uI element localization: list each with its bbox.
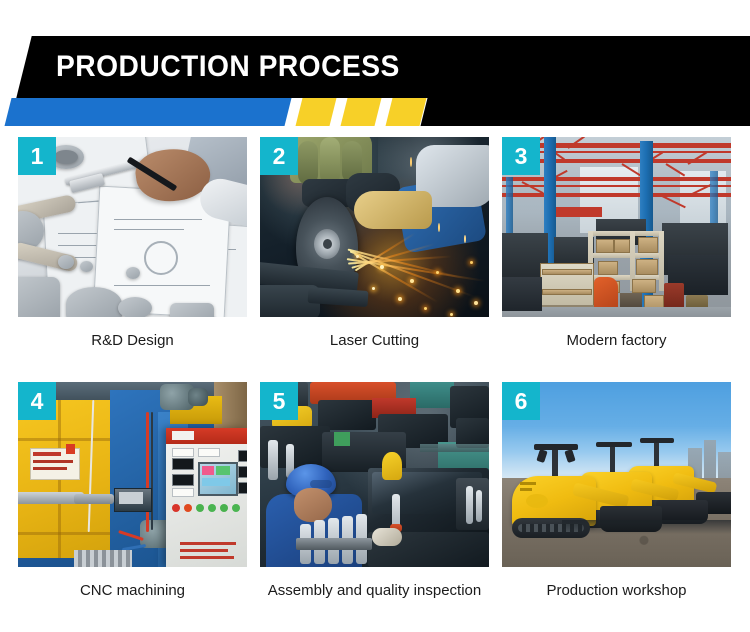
- process-card-grid: 1 R&D Design: [18, 137, 732, 632]
- header-yellow-dash-1: [296, 98, 337, 126]
- process-card-3[interactable]: 3 Modern factory: [502, 137, 731, 382]
- section-header-banner: PRODUCTION PROCESS: [0, 0, 750, 130]
- card-3-image[interactable]: 3: [502, 137, 731, 317]
- page-title: PRODUCTION PROCESS: [56, 44, 451, 90]
- header-black-lower-strip: [421, 98, 750, 126]
- process-card-4[interactable]: 4 CNC machining: [18, 382, 247, 632]
- card-6-number-badge: 6: [502, 382, 540, 420]
- process-card-6[interactable]: 6 Production workshop: [502, 382, 731, 632]
- card-6-image[interactable]: 6: [502, 382, 731, 567]
- card-3-caption: Modern factory: [502, 317, 731, 382]
- card-6-caption: Production workshop: [502, 567, 731, 632]
- card-4-number-badge: 4: [18, 382, 56, 420]
- card-1-caption: R&D Design: [18, 317, 247, 382]
- card-5-number-badge: 5: [260, 382, 298, 420]
- card-1-image[interactable]: 1: [18, 137, 247, 317]
- card-1-number-badge: 1: [18, 137, 56, 175]
- production-process-page: PRODUCTION PROCESS: [0, 0, 750, 632]
- card-3-number-badge: 3: [502, 137, 540, 175]
- card-4-caption: CNC machining: [18, 567, 247, 632]
- process-card-1[interactable]: 1 R&D Design: [18, 137, 247, 382]
- process-card-2[interactable]: 2 Laser Cutting: [260, 137, 489, 382]
- header-yellow-dash-3: [386, 98, 427, 126]
- card-5-image[interactable]: 5: [260, 382, 489, 567]
- card-5-caption: Assembly and quality inspection: [260, 567, 489, 632]
- card-4-image[interactable]: 4: [18, 382, 247, 567]
- header-yellow-dash-2: [341, 98, 382, 126]
- header-blue-bar: [5, 98, 292, 126]
- card-2-image[interactable]: 2: [260, 137, 489, 317]
- process-card-5[interactable]: 5 Assembly and quality inspection: [260, 382, 489, 632]
- card-2-number-badge: 2: [260, 137, 298, 175]
- card-2-caption: Laser Cutting: [260, 317, 489, 382]
